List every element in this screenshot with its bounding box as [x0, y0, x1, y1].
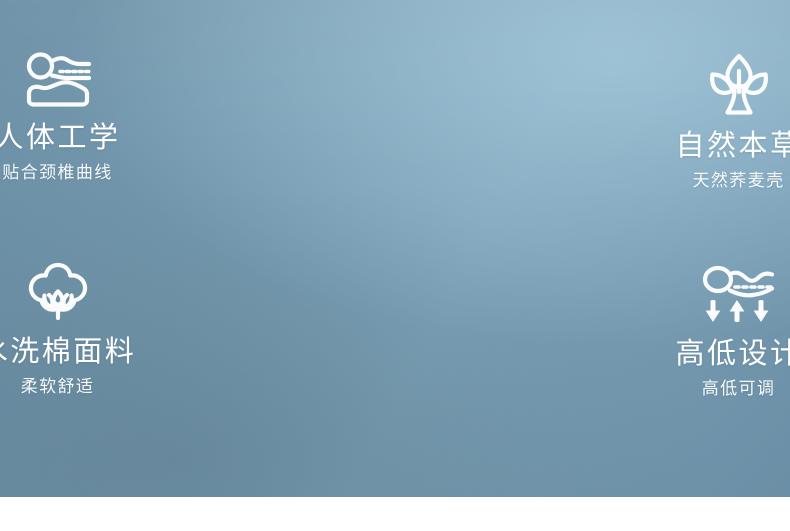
height-adjustable-icon	[701, 262, 777, 324]
banner-bottom-white-strip	[0, 497, 790, 531]
feature-title: 水洗棉面料	[0, 336, 136, 368]
feature-title: 高低设计	[675, 338, 790, 370]
feature-grid: 人体工学 贴合颈椎曲线	[0, 0, 790, 497]
feature-subtitle: 贴合颈椎曲线	[2, 163, 112, 183]
feature-subtitle: 柔软舒适	[21, 377, 95, 397]
herb-plant-icon	[707, 52, 771, 118]
feature-title: 自然本草	[675, 130, 790, 162]
feature-item-washed-cotton: 水洗棉面料 柔软舒适	[0, 262, 255, 442]
feature-item-ergonomics: 人体工学 贴合颈椎曲线	[0, 52, 255, 262]
feature-item-natural-herb: 自然本草 天然荞麦壳	[541, 52, 790, 262]
ergonomic-pillow-icon	[22, 52, 94, 110]
cotton-boll-icon	[24, 262, 92, 322]
feature-subtitle: 高低可调	[702, 379, 776, 399]
feature-title: 人体工学	[0, 122, 121, 154]
feature-subtitle: 天然荞麦壳	[693, 171, 785, 191]
product-feature-banner: 人体工学 贴合颈椎曲线	[0, 0, 790, 531]
feature-item-height-adjustable: 高低设计 高低可调	[541, 262, 790, 442]
